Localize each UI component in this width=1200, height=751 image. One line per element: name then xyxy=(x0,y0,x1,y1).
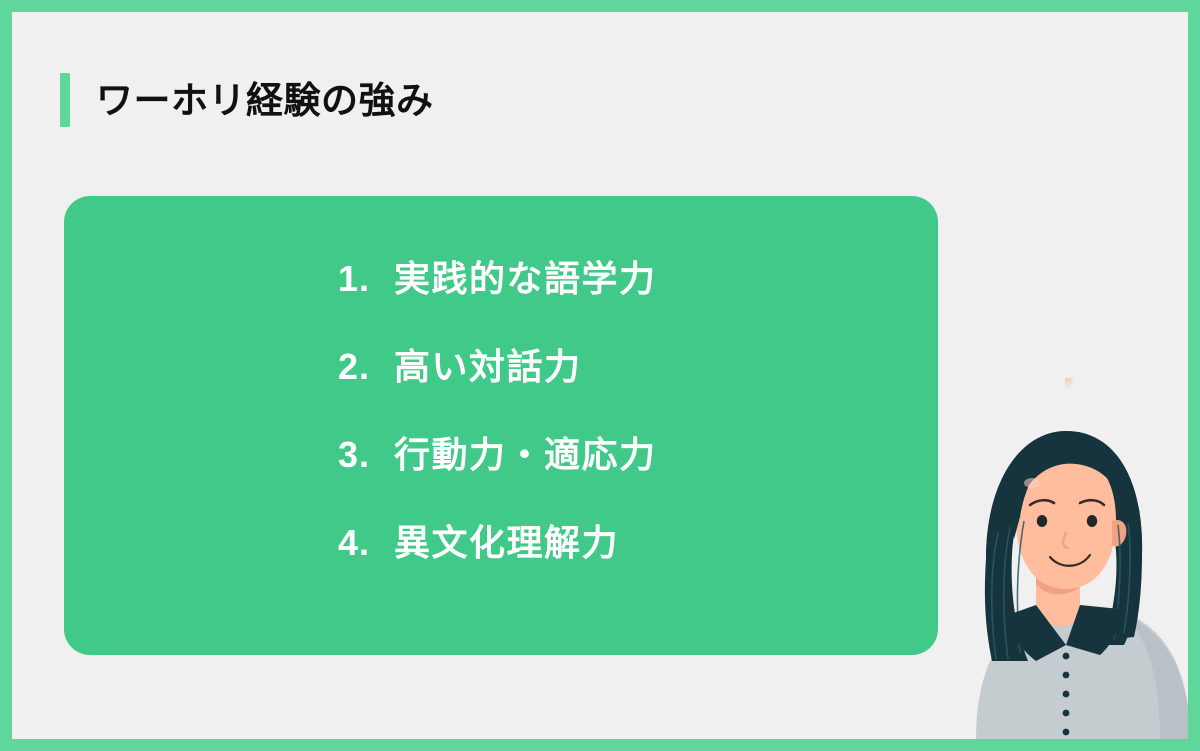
title-accent-bar xyxy=(60,73,70,127)
woman-illustration xyxy=(928,409,1188,739)
strengths-list: 1. 実践的な語学力 2. 高い対話力 3. 行動力・適応力 4. 異文化理解力 xyxy=(64,250,938,602)
page-title: ワーホリ経験の強み xyxy=(96,82,434,119)
list-item: 2. 高い対話力 xyxy=(64,338,938,426)
list-item-number: 3. xyxy=(338,434,394,476)
stray-mark xyxy=(1065,378,1073,388)
list-item-label: 異文化理解力 xyxy=(394,514,619,566)
list-item-label: 実践的な語学力 xyxy=(394,250,657,302)
eye-right xyxy=(1087,515,1097,527)
eye-left xyxy=(1037,515,1047,527)
slide-title: ワーホリ経験の強み xyxy=(60,72,434,128)
forehead-highlight xyxy=(1024,478,1040,488)
list-item-label: 高い対話力 xyxy=(394,338,582,390)
slide-frame: ワーホリ経験の強み 1. 実践的な語学力 2. 高い対話力 3. 行動力・適応力… xyxy=(0,0,1200,751)
list-item-number: 4. xyxy=(338,522,394,564)
list-item: 3. 行動力・適応力 xyxy=(64,426,938,514)
list-item-number: 1. xyxy=(338,258,394,300)
slide-canvas: ワーホリ経験の強み 1. 実践的な語学力 2. 高い対話力 3. 行動力・適応力… xyxy=(12,12,1188,739)
strengths-card: 1. 実践的な語学力 2. 高い対話力 3. 行動力・適応力 4. 異文化理解力 xyxy=(64,196,938,655)
list-item: 4. 異文化理解力 xyxy=(64,514,938,602)
list-item-label: 行動力・適応力 xyxy=(394,426,657,478)
list-item: 1. 実践的な語学力 xyxy=(64,250,938,338)
list-item-number: 2. xyxy=(338,346,394,388)
